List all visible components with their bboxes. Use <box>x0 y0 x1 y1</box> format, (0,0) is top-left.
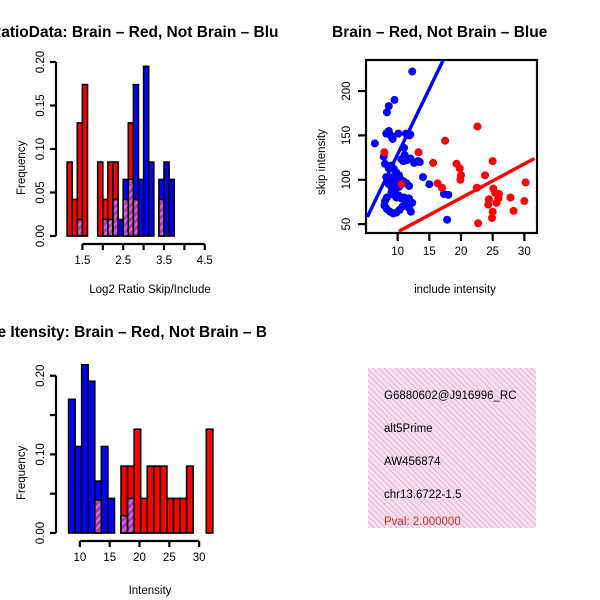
data-point <box>489 208 497 216</box>
histogram-bar <box>147 466 154 533</box>
x-tick-label: 2.5 <box>115 255 131 267</box>
data-point <box>407 208 415 216</box>
data-point <box>415 148 423 156</box>
y-axis <box>50 62 56 236</box>
data-point <box>520 197 528 205</box>
data-point <box>383 108 391 116</box>
info-line-event-type: alt5Prime <box>384 423 433 435</box>
x-tick-label: 1.5 <box>74 255 90 267</box>
x-tick-label: 20 <box>455 246 468 258</box>
histogram-bar <box>154 466 161 533</box>
x-tick-label: 25 <box>486 246 499 258</box>
data-point <box>382 173 390 181</box>
data-point <box>419 173 427 181</box>
data-point <box>473 184 481 192</box>
histogram-bar <box>141 498 148 533</box>
data-point <box>400 144 408 152</box>
y-tick-label: 0.00 <box>35 225 47 247</box>
y-tick-label: 0.20 <box>35 365 47 387</box>
intensity-scatter-panel: Brain – Red, Not Brain – Blue skip inten… <box>300 0 600 310</box>
y-axis <box>358 91 366 224</box>
x-tick-label: 10 <box>73 552 86 564</box>
log2-ratio-histogram-plot: 0.000.050.100.150.201.52.53.54.5 <box>0 48 300 308</box>
histogram-bar <box>82 85 87 236</box>
data-point <box>444 191 452 199</box>
x-tick-label: 15 <box>423 246 436 258</box>
data-point <box>510 207 518 215</box>
intensity-scatter-title: Brain – Red, Not Brain – Blue <box>332 24 547 42</box>
histogram-bars <box>69 365 213 533</box>
histogram-bar <box>187 466 194 533</box>
data-point <box>481 171 489 179</box>
y-tick-label: 0.10 <box>35 138 47 160</box>
data-point <box>405 182 413 190</box>
intensity-histogram-title: ne Itensity: Brain – Red, Not Brain – B <box>0 324 267 342</box>
histogram-bar <box>101 447 108 534</box>
x-axis <box>82 244 204 250</box>
x-tick-label: 4.5 <box>197 255 213 267</box>
data-point <box>408 68 416 76</box>
data-point <box>492 199 500 207</box>
y-tick-label: 50 <box>341 218 353 231</box>
data-point <box>489 157 497 165</box>
intensity-scatter-plot: 501001502001015202530 <box>300 48 600 308</box>
x-tick-label: 20 <box>133 552 146 564</box>
data-point <box>380 148 388 156</box>
y-tick-label: 150 <box>341 126 353 145</box>
annotation-info-box: G6880602@J916996_RC alt5Prime AW456874 c… <box>368 368 536 528</box>
y-tick-label: 200 <box>341 81 353 100</box>
info-line-pval: Pval: 2.000000 <box>384 516 461 528</box>
data-point <box>429 159 437 167</box>
histogram-bars <box>67 66 174 236</box>
data-point <box>474 219 482 227</box>
histogram-bar <box>134 429 141 533</box>
histogram-bar <box>169 179 174 236</box>
histogram-bar <box>149 162 154 236</box>
data-point <box>391 96 399 104</box>
x-tick-label: 30 <box>193 552 206 564</box>
data-point <box>484 201 492 209</box>
histogram-bar <box>206 429 213 533</box>
histogram-bar <box>82 365 89 533</box>
log2-ratio-histogram-panel: RatioData: Brain – Red, Not Brain – Blu … <box>0 0 300 310</box>
x-tick-label: 3.5 <box>156 255 172 267</box>
data-point <box>371 139 379 147</box>
histogram-bar <box>69 399 76 533</box>
histogram-bar <box>75 447 82 534</box>
histogram-bar-overlap <box>95 500 102 533</box>
y-tick-label: 0.00 <box>35 522 47 544</box>
data-point <box>443 216 451 224</box>
info-line-locus: chr13.6722-1.5 <box>384 489 461 501</box>
y-tick-label: 0.10 <box>35 443 47 465</box>
y-axis <box>50 376 56 533</box>
data-point <box>506 194 514 202</box>
data-point <box>394 130 402 138</box>
data-point <box>522 178 530 186</box>
y-tick-label: 0.05 <box>35 181 47 203</box>
x-axis <box>80 541 199 547</box>
histogram-bar-overlap <box>121 516 128 533</box>
x-tick-label: 25 <box>163 552 176 564</box>
histogram-bar <box>108 498 115 533</box>
histogram-bar <box>167 498 174 533</box>
x-tick-label: 10 <box>391 246 404 258</box>
histogram-bar <box>173 498 180 533</box>
data-point <box>441 137 449 145</box>
intensity-histogram-plot: 0.000.100.201015202530 <box>0 348 300 598</box>
data-point <box>397 180 405 188</box>
y-tick-label: 100 <box>341 170 353 189</box>
data-point <box>456 176 464 184</box>
plot-frame <box>366 60 537 233</box>
info-line-probe: G6880602@J916996_RC <box>384 390 517 402</box>
data-point <box>456 164 464 172</box>
x-axis <box>398 233 525 241</box>
data-point <box>406 131 414 139</box>
x-tick-label: 30 <box>518 246 531 258</box>
x-tick-label: 15 <box>103 552 116 564</box>
data-point <box>473 123 481 131</box>
data-point <box>425 180 433 188</box>
histogram-bar <box>160 466 167 533</box>
data-point <box>438 184 446 192</box>
histogram-bar <box>88 381 95 533</box>
y-tick-label: 0.15 <box>35 94 47 116</box>
histogram-bar <box>180 498 187 533</box>
data-point <box>416 158 424 166</box>
histogram-bar-overlap <box>128 498 135 533</box>
log2-ratio-histogram-title: RatioData: Brain – Red, Not Brain – Blu <box>0 24 279 42</box>
y-tick-label: 0.20 <box>35 51 47 73</box>
info-line-accession: AW456874 <box>384 456 440 468</box>
intensity-histogram-panel: ne Itensity: Brain – Red, Not Brain – B … <box>0 300 300 600</box>
